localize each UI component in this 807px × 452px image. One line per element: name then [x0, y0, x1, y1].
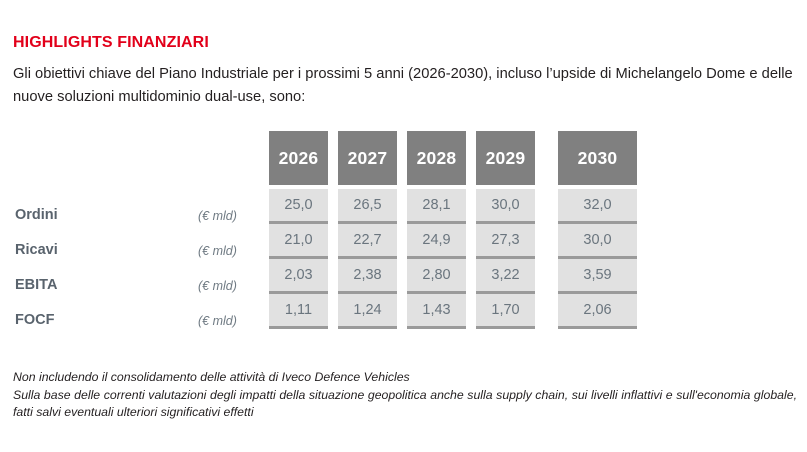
footnotes: Non includendo il consolidamento delle a…: [13, 369, 797, 422]
row-label-ebita: EBITA: [15, 277, 57, 293]
column-body-2026: 25,021,02,031,11: [269, 185, 328, 329]
row-label-focf: FOCF: [15, 312, 54, 328]
column-body-2028: 28,124,92,801,43: [407, 185, 466, 329]
cell-focf-2029: 1,70: [476, 294, 535, 326]
row-unit: (€ mld): [198, 279, 237, 293]
cell-focf-2030: 2,06: [558, 294, 637, 326]
year-column-2026: 202625,021,02,031,11: [269, 131, 328, 329]
cell-ordini-2026: 25,0: [269, 189, 328, 224]
cell-ebita-2028: 2,80: [407, 259, 466, 294]
column-header-2026: 2026: [269, 131, 328, 185]
footnote-2: Sulla base delle correnti valutazioni de…: [13, 387, 797, 422]
column-body-2027: 26,522,72,381,24: [338, 185, 397, 329]
cell-ordini-2028: 28,1: [407, 189, 466, 224]
cell-focf-2026: 1,11: [269, 294, 328, 326]
row-unit: (€ mld): [198, 209, 237, 223]
cell-focf-2028: 1,43: [407, 294, 466, 326]
cell-ebita-2029: 3,22: [476, 259, 535, 294]
cell-ricavi-2029: 27,3: [476, 224, 535, 259]
cell-ebita-2026: 2,03: [269, 259, 328, 294]
year-column-2027: 202726,522,72,381,24: [338, 131, 397, 329]
cell-ebita-2027: 2,38: [338, 259, 397, 294]
table-row: Ricavi(€ mld): [13, 235, 253, 270]
cell-ordini-2029: 30,0: [476, 189, 535, 224]
column-header-2029: 2029: [476, 131, 535, 185]
year-column-2028: 202828,124,92,801,43: [407, 131, 466, 329]
table-row: FOCF(€ mld): [13, 305, 253, 340]
column-header-2030: 2030: [558, 131, 637, 185]
cell-ebita-2030: 3,59: [558, 259, 637, 294]
cell-ricavi-2028: 24,9: [407, 224, 466, 259]
row-label-ordini: Ordini: [15, 207, 58, 223]
page-title: HIGHLIGHTS FINANZIARI: [13, 34, 209, 52]
cell-focf-2027: 1,24: [338, 294, 397, 326]
table-row: Ordini(€ mld): [13, 200, 253, 235]
year-column-2029: 202930,027,33,221,70: [476, 131, 535, 329]
row-unit: (€ mld): [198, 314, 237, 328]
cell-ricavi-2027: 22,7: [338, 224, 397, 259]
year-column-2030: 203032,030,03,592,06: [558, 131, 637, 329]
column-header-2028: 2028: [407, 131, 466, 185]
footnote-1: Non includendo il consolidamento delle a…: [13, 369, 797, 387]
column-body-2029: 30,027,33,221,70: [476, 185, 535, 329]
table-row: EBITA(€ mld): [13, 270, 253, 305]
column-header-2027: 2027: [338, 131, 397, 185]
row-label-ricavi: Ricavi: [15, 242, 58, 258]
table-row-labels: Ordini(€ mld)Ricavi(€ mld)EBITA(€ mld)FO…: [13, 200, 253, 340]
cell-ordini-2030: 32,0: [558, 189, 637, 224]
cell-ricavi-2030: 30,0: [558, 224, 637, 259]
slide-root: HIGHLIGHTS FINANZIARI Gli obiettivi chia…: [0, 0, 807, 452]
financial-highlights-table: Ordini(€ mld)Ricavi(€ mld)EBITA(€ mld)FO…: [0, 131, 807, 356]
cell-ordini-2027: 26,5: [338, 189, 397, 224]
intro-paragraph: Gli obiettivi chiave del Piano Industria…: [13, 63, 797, 109]
cell-ricavi-2026: 21,0: [269, 224, 328, 259]
column-body-2030: 32,030,03,592,06: [558, 185, 637, 329]
row-unit: (€ mld): [198, 244, 237, 258]
